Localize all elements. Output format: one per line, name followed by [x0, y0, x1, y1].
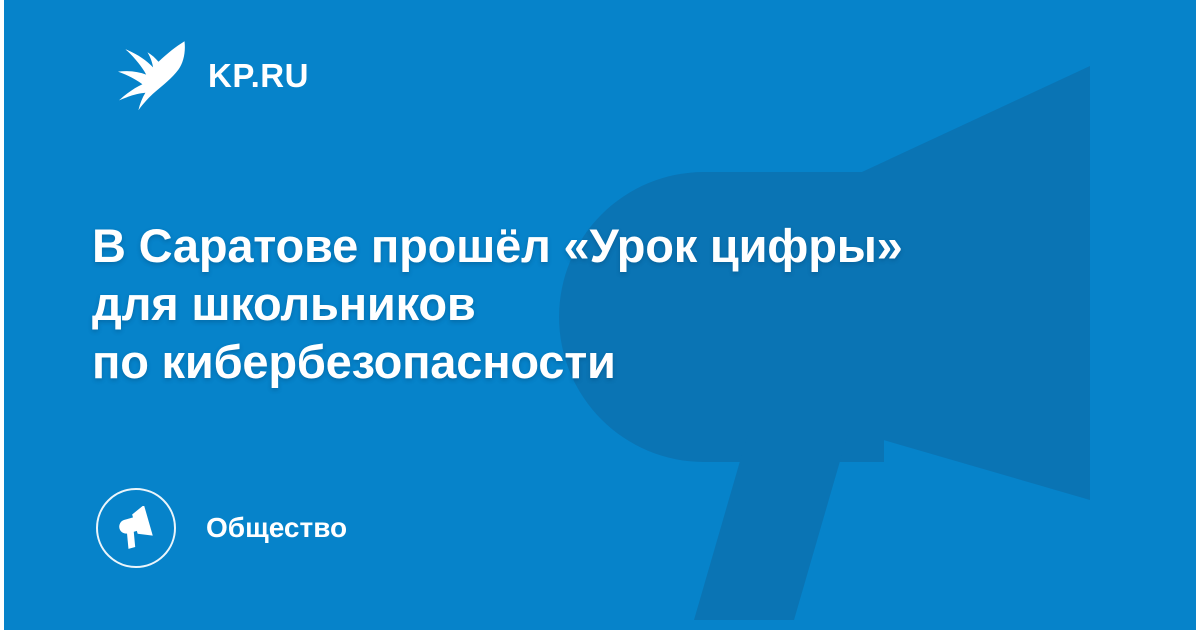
headline-line-3: по кибербезопасности [92, 333, 1102, 391]
social-share-card: KP.RU В Саратове прошёл «Урок цифры» для… [0, 0, 1200, 630]
category-badge[interactable]: Общество [96, 486, 347, 570]
headline-line-2: для школьников [92, 275, 1102, 333]
category-label: Общество [206, 514, 347, 542]
brand-logo[interactable]: KP.RU [110, 36, 309, 114]
megaphone-icon [96, 488, 176, 568]
swallow-bird-icon [110, 38, 186, 112]
brand-name: KP.RU [208, 59, 309, 92]
headline-line-1: В Саратове прошёл «Урок цифры» [92, 217, 1102, 275]
page-title: В Саратове прошёл «Урок цифры» для школь… [92, 217, 1102, 391]
card-canvas: KP.RU В Саратове прошёл «Урок цифры» для… [4, 0, 1196, 630]
